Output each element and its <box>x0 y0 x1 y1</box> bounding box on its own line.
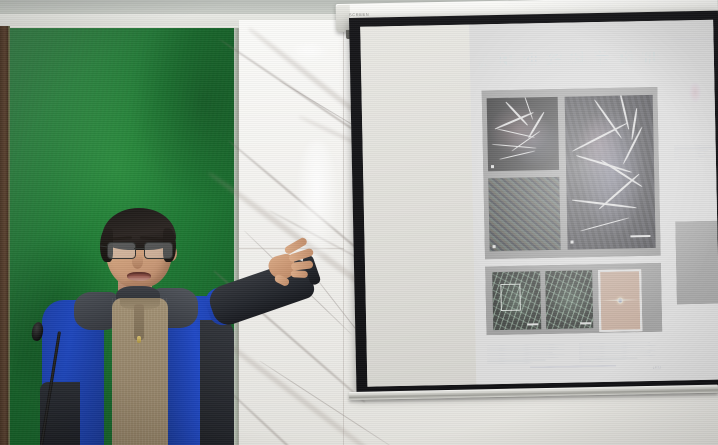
fiber-tractography-panel-a <box>487 97 559 171</box>
correlation-heatmap-panel-f <box>598 269 642 332</box>
finger-little <box>291 270 308 278</box>
microscopy-panel-d <box>492 271 541 330</box>
figure-group-top <box>481 87 661 260</box>
adjacent-page-text <box>674 144 718 207</box>
sweater-zipper-pull <box>137 336 141 343</box>
slide-title-text: 认知神经科学的研 <box>473 44 666 75</box>
jacket-panel-right <box>200 320 234 445</box>
projected-slide: 认知神经科学的研 <box>470 20 718 385</box>
slide-title-band: 认知神经科学的研 <box>479 37 660 82</box>
region-of-interest-box <box>500 284 521 311</box>
adjacent-page <box>667 27 718 374</box>
slide-footer-reference <box>530 365 616 368</box>
screen-housing-brand: SCREEN <box>349 12 369 17</box>
screen-unlit-area <box>360 25 477 387</box>
lecture-photo-scene: SCREEN 认知神经科学的研 <box>0 0 718 445</box>
presenter <box>24 206 250 445</box>
diffusion-orientation-panel-b <box>488 177 560 251</box>
slide-page: 认知神经科学的研 <box>475 28 669 377</box>
adjacent-page-figure <box>672 58 718 135</box>
finger-ring <box>291 260 314 271</box>
nose <box>132 254 143 269</box>
screen-surface: 认知神经科学的研 <box>360 20 718 387</box>
body-text-column-right <box>578 341 663 367</box>
wall-gloss-reflection-top <box>286 40 332 62</box>
scale-bar <box>631 235 650 237</box>
slide-page-number: 1632 <box>652 364 661 369</box>
glasses-bridge <box>134 248 144 249</box>
glasses-lens-right <box>144 242 173 259</box>
projection-screen[interactable]: 认知神经科学的研 <box>349 11 718 396</box>
slide-body-text <box>486 341 663 369</box>
sweater-placket <box>134 304 144 340</box>
microscopy-panel-e <box>545 270 594 329</box>
sweater <box>112 298 168 445</box>
figure-group-bottom <box>485 263 663 336</box>
adjacent-page-figure-2 <box>675 220 718 304</box>
whole-brain-tractogram-panel-c <box>564 95 655 249</box>
body-text-column-left <box>486 343 571 369</box>
